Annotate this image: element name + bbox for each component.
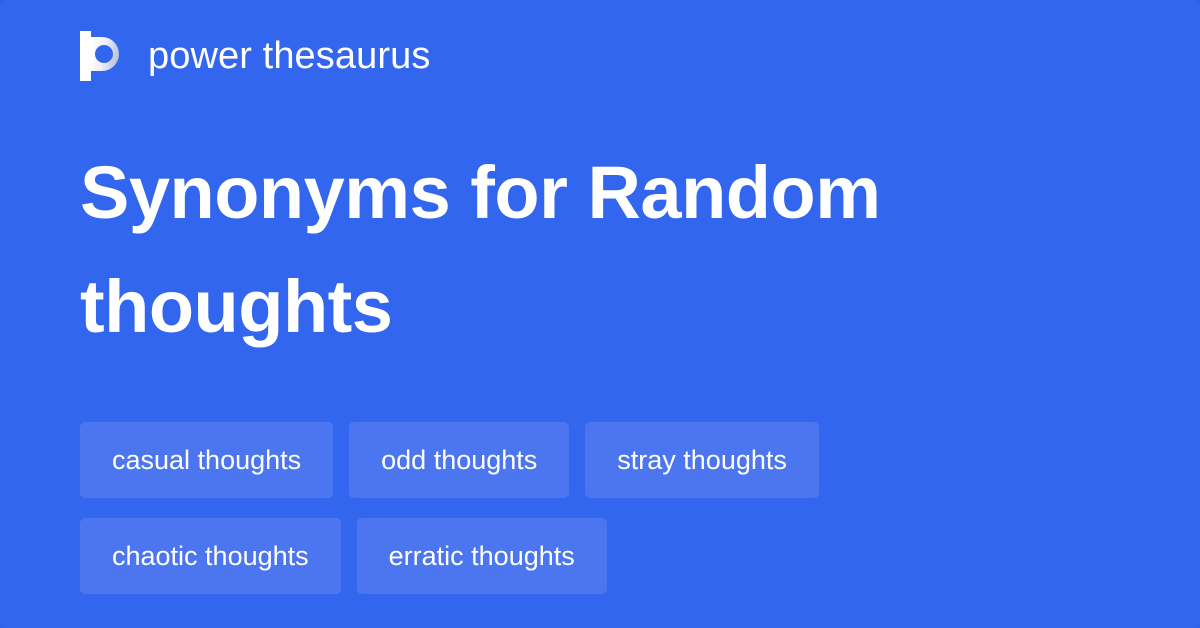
- brand-lockup[interactable]: power thesaurus: [80, 28, 430, 84]
- social-share-card: power thesaurus Synonyms for Random thou…: [0, 0, 1200, 628]
- synonym-chip[interactable]: chaotic thoughts: [80, 518, 341, 594]
- brand-name: power thesaurus: [148, 37, 430, 75]
- page-title: Synonyms for Random thoughts: [80, 136, 980, 364]
- power-thesaurus-b-logo-icon: [80, 31, 126, 81]
- synonym-chip[interactable]: odd thoughts: [349, 422, 569, 498]
- synonym-chip[interactable]: stray thoughts: [585, 422, 819, 498]
- synonym-chip-list: casual thoughts odd thoughts stray thoug…: [80, 422, 1080, 594]
- synonym-chip[interactable]: erratic thoughts: [357, 518, 607, 594]
- synonym-chip[interactable]: casual thoughts: [80, 422, 333, 498]
